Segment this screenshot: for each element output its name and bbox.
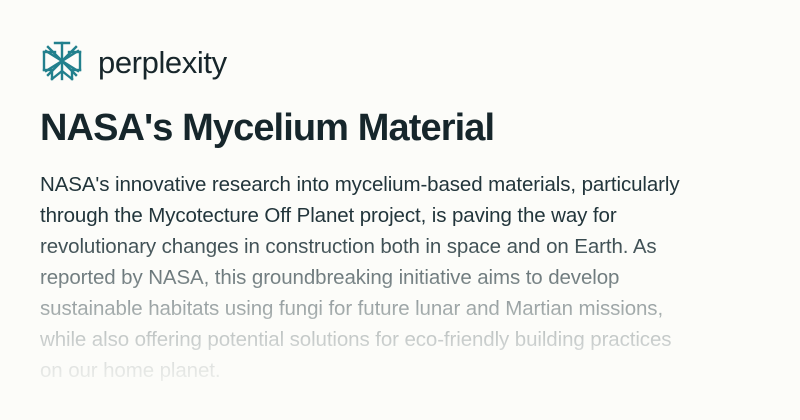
- article-body-fade-container: NASA's innovative research into mycelium…: [40, 169, 764, 386]
- article-card: perplexity NASA's Mycelium Material NASA…: [0, 0, 800, 420]
- article-body: NASA's innovative research into mycelium…: [40, 169, 764, 386]
- body-line: revolutionary changes in construction bo…: [40, 231, 764, 262]
- article-title: NASA's Mycelium Material: [40, 106, 760, 150]
- body-line: while also offering potential solutions …: [40, 324, 764, 355]
- brand-header: perplexity: [40, 38, 760, 84]
- body-line: NASA's innovative research into mycelium…: [40, 169, 764, 200]
- body-line: on our home planet.: [40, 355, 764, 386]
- body-line: through the Mycotecture Off Planet proje…: [40, 200, 764, 231]
- body-line: reported by NASA, this groundbreaking in…: [40, 262, 764, 293]
- perplexity-logo-icon: [40, 39, 84, 83]
- perplexity-wordmark: perplexity: [98, 47, 227, 78]
- body-line: sustainable habitats using fungi for fut…: [40, 293, 764, 324]
